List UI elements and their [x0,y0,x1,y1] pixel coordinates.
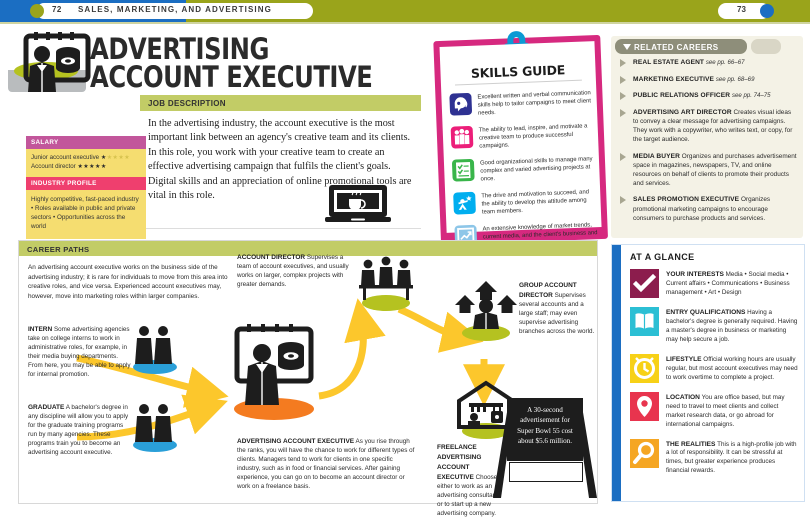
node-name: INTERN [28,326,52,333]
career-name: MARKETING EXECUTIVE [633,76,714,83]
related-career-item[interactable]: MEDIA BUYER Organizes and purchases adve… [619,152,797,189]
page-header: 72 SALES, MARKETING, AND ADVERTISING 73 [0,0,810,22]
related-careers-title: RELATED CAREERS [634,43,719,52]
skill-text: Excellent written and verbal communicati… [477,88,595,118]
star-person-icon [453,192,476,215]
map-pin-icon [630,392,659,421]
glance-text: ENTRY QUALIFICATIONS Having a bachelor's… [666,307,798,345]
glance-item: LIFESTYLE Official working hours are usu… [630,354,798,383]
laptop-coffee-icon [325,185,391,225]
salary-heading: SALARY [26,136,146,149]
group-account-director-figure-icon [455,281,517,343]
skill-text: The drive and motivation to succeed, and… [481,187,599,217]
glance-item: LOCATION You are office based, but may n… [630,392,798,430]
intern-figure-icon [127,321,183,377]
section-title: SALES, MARKETING, AND ADVERTISING [78,5,272,14]
triangle-bullet-icon [620,92,626,100]
salary-row-stars: ★★★★★ [101,154,130,161]
title-line-2: ACCOUNT EXECUTIVE [90,64,416,92]
triangle-bullet-icon [620,153,626,161]
glance-text: LIFESTYLE Official working hours are usu… [666,354,798,383]
node-desc: A bachelor's degree in any discipline wi… [28,404,128,456]
check-icon [630,269,659,298]
triangle-bullet-icon [620,109,626,117]
skill-item: The drive and motivation to succeed, and… [453,187,599,218]
checklist-icon [452,159,475,182]
related-career-item[interactable]: REAL ESTATE AGENT see pp. 66–67 [619,58,797,68]
skill-item: Good organizational skills to manage man… [452,154,598,185]
career-name: PUBLIC RELATIONS OFFICER [633,92,730,99]
skill-item: The ability to lead, inspire, and motiva… [451,121,597,152]
glance-name: THE REALITIES [666,441,715,448]
magnifier-icon [630,439,659,468]
header-left-dot [30,4,44,18]
node-advertising-account-executive-text: ADVERTISING ACCOUNT EXECUTIVE As you ris… [237,437,415,492]
blackboard-panel: A 30-second advertisement for Super Bowl… [507,398,583,461]
book-spread-page: 72 SALES, MARKETING, AND ADVERTISING 73 [0,0,810,516]
triangle-bullet-icon [620,196,626,204]
salary-row-label: Account director [31,163,76,170]
salary-row: Junior account executive ★★★★★ [31,153,141,162]
skills-guide-clipboard: SKILLS GUIDE Excellent written and verba… [433,27,608,245]
salary-row-stars: ★★★★★ [77,163,106,170]
triangle-bullet-icon [620,76,626,84]
glance-text: THE REALITIES This is a high-profile job… [666,439,798,477]
node-name: ADVERTISING ACCOUNT EXECUTIVE [237,438,354,445]
clipboard-sheet: SKILLS GUIDE Excellent written and verba… [440,41,602,233]
node-intern-text: INTERN Some advertising agencies take on… [28,325,134,380]
triangle-bullet-icon [620,59,626,67]
glance-item: ENTRY QUALIFICATIONS Having a bachelor's… [630,307,798,345]
at-a-glance-list: YOUR INTERESTS Media • Social media • Cu… [630,269,798,485]
left-page-number: 72 [52,5,62,14]
salary-row: Account director ★★★★★ [31,162,141,171]
glance-name: YOUR INTERESTS [666,271,724,278]
related-career-item[interactable]: PUBLIC RELATIONS OFFICER see pp. 74–75 [619,91,797,101]
career-name: SALES PROMOTION EXECUTIVE [633,196,739,203]
right-page-number: 73 [737,5,746,14]
node-graduate-text: GRADUATE A bachelor's degree in any disc… [28,403,134,458]
related-careers-tab-secondary [751,39,781,54]
team-people-icon [451,126,474,149]
salary-industry-panel: SALARY Junior account executive ★★★★★ Ac… [26,136,146,239]
fact-text: A 30-second advertisement for Super Bowl… [507,398,583,446]
node-group-account-director-text: GROUP ACCOUNT DIRECTOR Supervises severa… [519,281,597,337]
graduate-figure-icon [127,399,183,455]
salary-body: Junior account executive ★★★★★ Account d… [26,149,146,177]
related-career-item[interactable]: SALES PROMOTION EXECUTIVE Organizes prom… [619,195,797,223]
glance-text: LOCATION You are office based, but may n… [666,392,798,430]
skill-item: Excellent written and verbal communicati… [449,88,595,119]
related-career-item[interactable]: ADVERTISING ART DIRECTOR Creates visual … [619,108,797,145]
blackboard-lower-panel [509,462,583,482]
chevron-down-icon [623,44,631,50]
book-icon [630,307,659,336]
account-executive-icon [22,32,92,122]
salary-row-label: Junior account executive [31,154,99,161]
advertising-account-executive-figure-icon [219,329,329,421]
account-director-figure-icon [355,255,417,313]
glance-text: YOUR INTERESTS Media • Social media • Cu… [666,269,798,298]
related-careers-panel: RELATED CAREERS REAL ESTATE AGENT see pp… [611,36,803,238]
node-desc: Some advertising agencies take on colleg… [28,326,131,378]
page-title: ADVERTISING ACCOUNT EXECUTIVE [90,36,416,92]
at-a-glance-title: AT A GLANCE [630,252,695,262]
header-rule [0,22,810,24]
career-name: ADVERTISING ART DIRECTOR [633,109,732,116]
career-see-ref: see pp. 68–69 [716,76,755,83]
clock-icon [630,354,659,383]
related-career-item[interactable]: MARKETING EXECUTIVE see pp. 68–69 [619,75,797,85]
fact-blackboard: A 30-second advertisement for Super Bowl… [493,398,597,502]
industry-profile-body: Highly competitive, fast-paced industry … [26,190,146,240]
related-careers-list: REAL ESTATE AGENT see pp. 66–67 MARKETIN… [619,58,797,230]
industry-profile-heading: INDUSTRY PROFILE [26,177,146,190]
skill-text: Good organizational skills to manage man… [480,154,598,184]
job-description-heading: JOB DESCRIPTION [140,95,421,111]
related-careers-tab[interactable]: RELATED CAREERS [615,39,747,54]
career-name: MEDIA BUYER [633,153,680,160]
node-name: GRADUATE [28,404,64,411]
skill-text: The ability to lead, inspire, and motiva… [479,121,597,151]
career-see-ref: see pp. 74–75 [732,92,771,99]
career-name: REAL ESTATE AGENT [633,59,704,66]
skills-guide-title: SKILLS GUIDE [440,61,595,82]
node-desc: As you rise through the ranks, you will … [237,438,414,490]
at-a-glance-accent-bar [612,245,621,501]
head-speech-icon [449,93,472,116]
node-account-director-text: ACCOUNT DIRECTOR Supervises a team of ac… [237,253,355,290]
at-a-glance-panel: AT A GLANCE YOUR INTERESTS Media • Socia… [611,244,805,502]
glance-name: LOCATION [666,394,700,401]
glance-item: YOUR INTERESTS Media • Social media • Cu… [630,269,798,298]
glance-name: LIFESTYLE [666,356,702,363]
career-see-ref: see pp. 66–67 [706,59,745,66]
header-right-dot [760,4,774,18]
node-name: ACCOUNT DIRECTOR [237,254,305,261]
glance-name: ENTRY QUALIFICATIONS [666,309,745,316]
glance-item: THE REALITIES This is a high-profile job… [630,439,798,477]
